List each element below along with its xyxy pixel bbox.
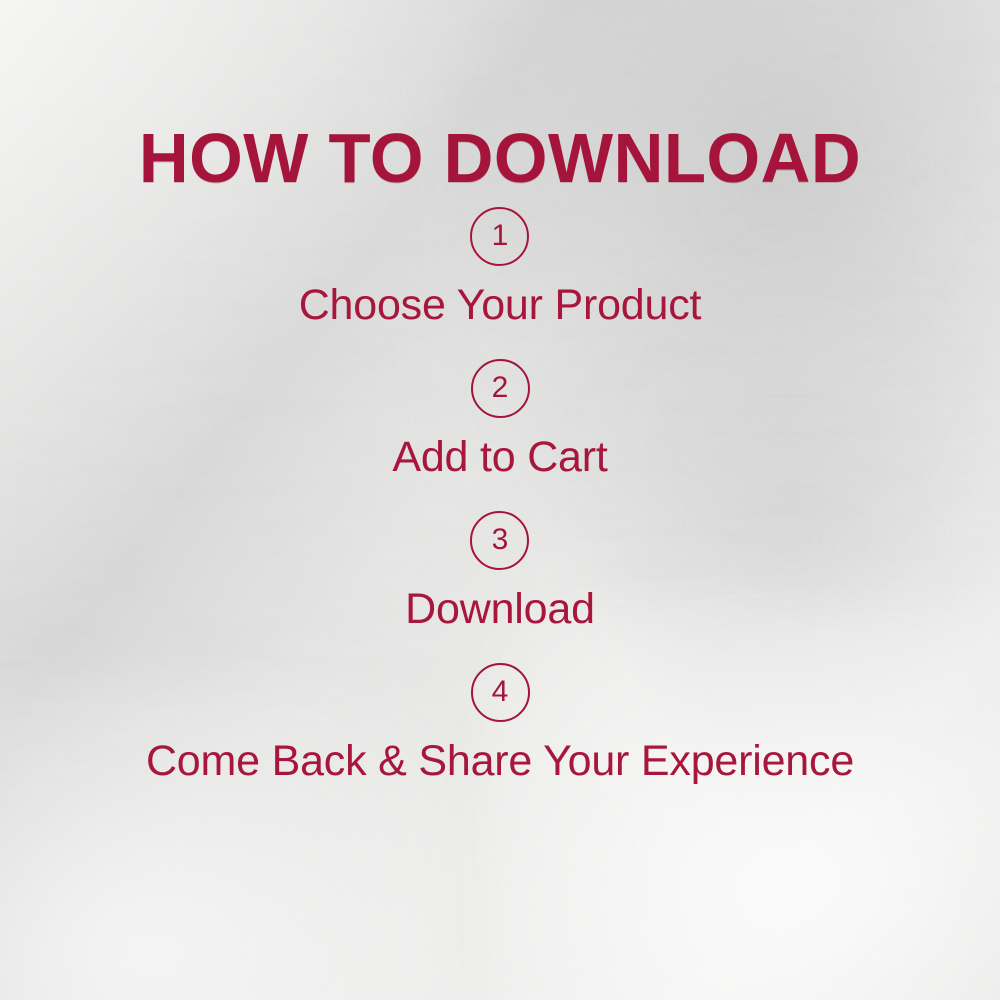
step-item: 1 Choose Your Product	[299, 207, 702, 328]
step-label: Download	[405, 587, 595, 632]
step-number-label: 2	[492, 373, 509, 403]
poster-content: HOW TO DOWNLOAD 1 Choose Your Product 2 …	[0, 0, 1000, 1000]
step-label: Come Back & Share Your Experience	[146, 739, 854, 784]
step-number-badge: 4	[471, 663, 530, 722]
page-title: HOW TO DOWNLOAD	[8, 123, 993, 193]
steps-list: 1 Choose Your Product 2 Add to Cart 3 Do…	[0, 207, 1000, 785]
step-item: 4 Come Back & Share Your Experience	[146, 663, 854, 784]
step-number-label: 4	[492, 677, 509, 707]
step-number-label: 3	[492, 525, 509, 555]
step-label: Add to Cart	[392, 435, 607, 480]
poster-canvas: HOW TO DOWNLOAD 1 Choose Your Product 2 …	[0, 0, 1000, 1000]
step-item: 2 Add to Cart	[392, 359, 607, 480]
step-number-badge: 1	[470, 207, 529, 266]
step-number-label: 1	[492, 221, 509, 251]
step-item: 3 Download	[405, 511, 595, 632]
step-label: Choose Your Product	[299, 283, 702, 328]
step-number-badge: 2	[471, 359, 530, 418]
step-number-badge: 3	[470, 511, 529, 570]
